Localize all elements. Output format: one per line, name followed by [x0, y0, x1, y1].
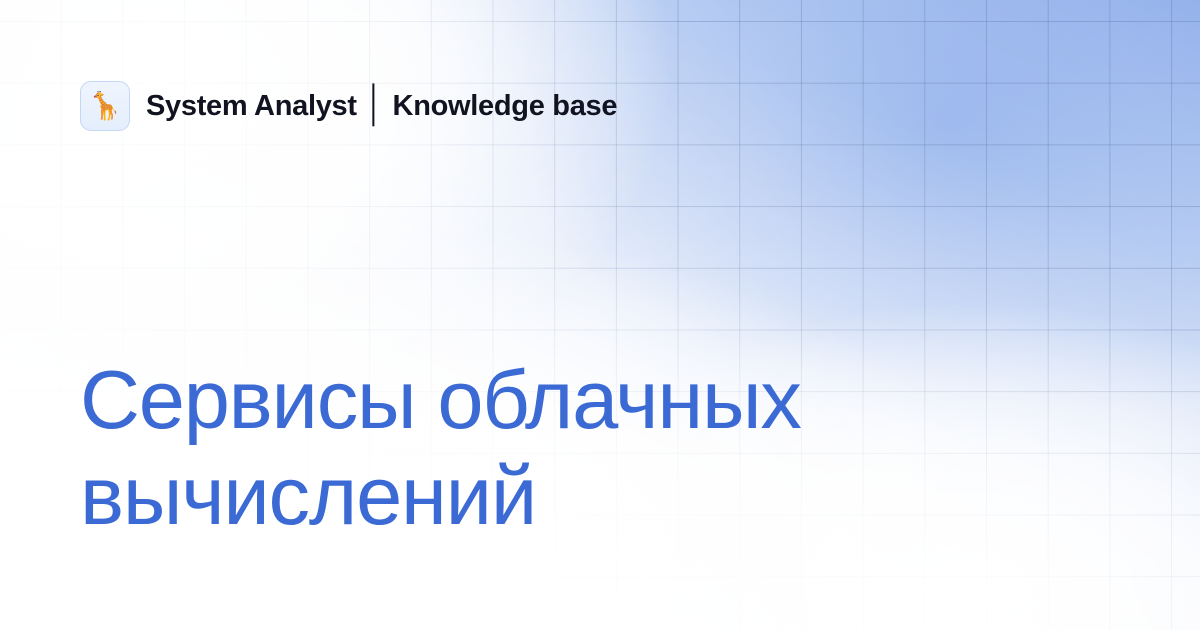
section-name: Knowledge base — [393, 90, 618, 123]
brand-title: System Analyst │ Knowledge base — [146, 90, 617, 123]
card-content: 🦒 System Analyst │ Knowledge base Сервис… — [0, 0, 1200, 630]
brand-header: 🦒 System Analyst │ Knowledge base — [80, 80, 617, 132]
title-separator: │ — [366, 85, 384, 125]
site-name: System Analyst — [146, 90, 357, 123]
og-card: 🦒 System Analyst │ Knowledge base Сервис… — [0, 0, 1200, 630]
page-title: Сервисы облачных вычислений — [80, 352, 1120, 544]
giraffe-icon: 🦒 — [80, 81, 130, 131]
